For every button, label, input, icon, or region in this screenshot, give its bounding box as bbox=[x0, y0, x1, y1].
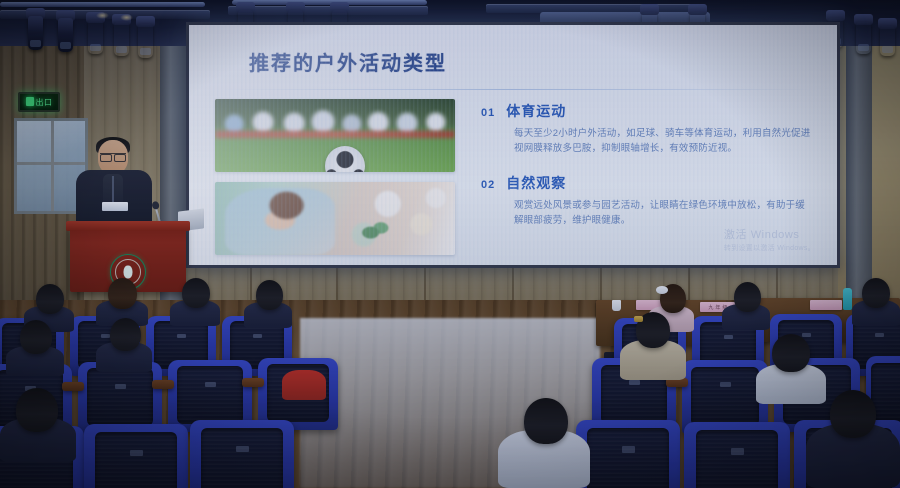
projection-screen: 推荐的户外活动类型 bbox=[189, 25, 837, 265]
audience-head bbox=[36, 284, 64, 314]
armrest bbox=[62, 382, 84, 391]
stage-light-icon bbox=[114, 22, 129, 56]
child-figure bbox=[225, 188, 335, 255]
slide-item-02-desc: 观赏远处风景或参与园艺活动，让眼睛在绿色环境中放松，有助于缓解眼部疲劳，维护眼健… bbox=[514, 198, 813, 229]
slide-item-02-number: 02 bbox=[481, 179, 495, 191]
audience-member bbox=[282, 370, 326, 400]
slide-item-01-head: 01 体育运动 bbox=[481, 101, 813, 121]
water-bottle-icon bbox=[843, 288, 852, 310]
slide-item-01-desc: 每天至少2小时户外活动，如足球、骑车等体育运动，利用自然光促进视网膜释放多巴胺，… bbox=[514, 126, 813, 157]
presenter bbox=[62, 140, 182, 290]
stage-light-icon bbox=[28, 16, 43, 50]
stage-light-icon bbox=[138, 24, 153, 58]
audience-head bbox=[830, 390, 876, 438]
truss-bar bbox=[0, 2, 205, 7]
name-placard bbox=[810, 300, 842, 310]
stage-light-icon bbox=[58, 18, 73, 52]
armrest bbox=[242, 378, 264, 387]
slide-item-01-number: 01 bbox=[481, 107, 495, 119]
audience-head bbox=[734, 282, 761, 312]
lamp-glow bbox=[120, 14, 133, 21]
seat bbox=[576, 420, 680, 488]
screenshot-root: 出口 推荐的户外活动类型 bbox=[0, 0, 900, 488]
slide-text-column: 01 体育运动 每天至少2小时户外活动，如足球、骑车等体育运动，利用自然光促进视… bbox=[481, 99, 813, 255]
slide-item-02-head: 02 自然观察 bbox=[481, 173, 813, 193]
seat bbox=[190, 420, 294, 488]
plant-icon bbox=[361, 217, 393, 243]
slide-item-02-title: 自然观察 bbox=[506, 173, 566, 193]
nature-photo bbox=[215, 182, 455, 255]
podium-top bbox=[66, 221, 190, 231]
slide-title: 推荐的户外活动类型 bbox=[249, 47, 813, 76]
audience-head bbox=[862, 278, 890, 308]
slide-item-01: 01 体育运动 每天至少2小时户外活动，如足球、骑车等体育运动，利用自然光促进视… bbox=[481, 101, 813, 157]
audience-head bbox=[108, 278, 137, 309]
audience-head bbox=[772, 334, 810, 372]
stage-light-icon bbox=[88, 20, 103, 54]
slide-body: 01 体育运动 每天至少2小时户外活动，如足球、骑车等体育运动，利用自然光促进视… bbox=[215, 99, 813, 255]
projection-screen-frame: 推荐的户外活动类型 bbox=[186, 22, 840, 268]
seat bbox=[84, 424, 188, 488]
emergency-exit-sign: 出口 bbox=[18, 92, 60, 112]
armrest bbox=[152, 380, 174, 389]
title-divider bbox=[215, 89, 813, 90]
seat bbox=[684, 422, 790, 488]
soccer-bench bbox=[215, 131, 455, 138]
slide-item-01-title: 体育运动 bbox=[506, 101, 566, 121]
audience-head bbox=[182, 278, 210, 308]
audience-head bbox=[20, 320, 52, 354]
lamp-glow bbox=[96, 12, 109, 19]
exit-sign-label: 出口 bbox=[26, 97, 53, 108]
paper-cup-icon bbox=[612, 300, 621, 311]
running-man-icon bbox=[26, 97, 34, 106]
audience-head bbox=[524, 398, 568, 444]
soccer-ball-icon bbox=[325, 146, 365, 172]
emblem-center bbox=[124, 266, 133, 279]
stage-light-icon bbox=[880, 26, 895, 56]
slide-item-02: 02 自然观察 观赏远处风景或参与园艺活动，让眼睛在绿色环境中放松，有助于缓解眼… bbox=[481, 173, 813, 229]
slide-image-column bbox=[215, 99, 455, 255]
hair-clip-icon bbox=[634, 316, 643, 322]
audience-head bbox=[110, 318, 141, 351]
soccer-photo bbox=[215, 99, 455, 172]
hair-bow-icon bbox=[656, 286, 668, 294]
presentation-slide: 推荐的户外活动类型 bbox=[189, 25, 837, 265]
audience-head bbox=[16, 388, 58, 432]
glasses-icon bbox=[100, 153, 126, 159]
audience-head bbox=[256, 280, 283, 310]
ceiling-truss-center bbox=[228, 6, 428, 15]
presenter-badge bbox=[102, 202, 128, 211]
stage-light-icon bbox=[856, 22, 871, 54]
